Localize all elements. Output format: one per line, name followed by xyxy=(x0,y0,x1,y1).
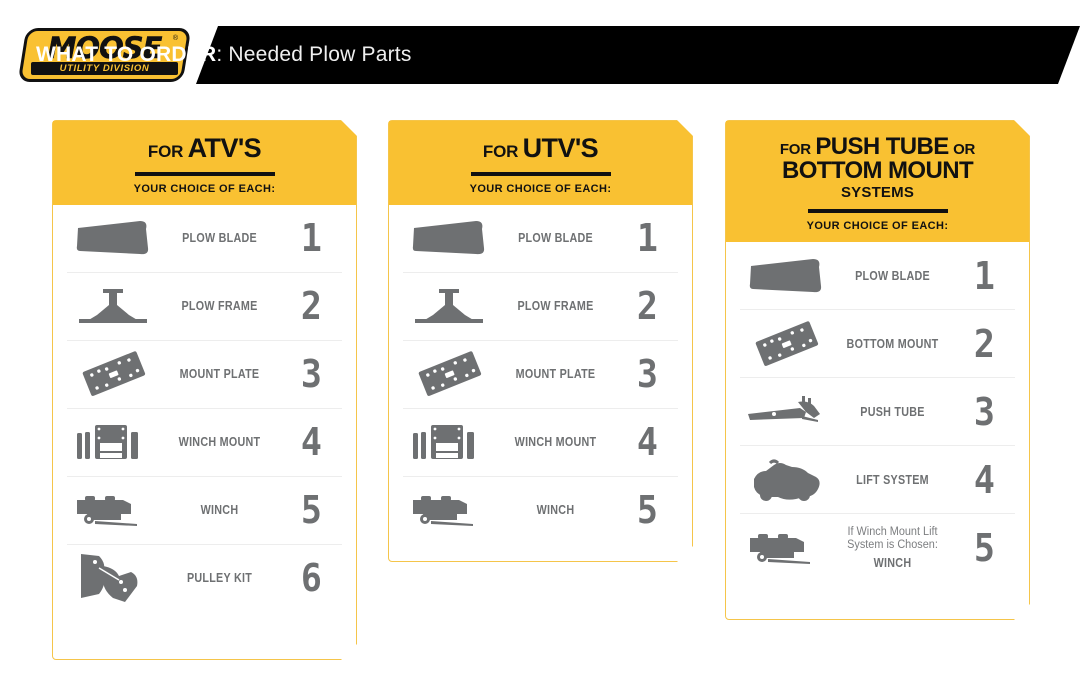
list-item-label: PUSH TUBE xyxy=(840,405,944,419)
list-item-note: If Winch Mount Lift System is Chosen: xyxy=(835,526,949,553)
list-item-number: 2 xyxy=(618,287,675,325)
card-atv-divider xyxy=(135,172,275,176)
card-utv-divider xyxy=(471,172,611,176)
list-item-number: 3 xyxy=(955,393,1012,431)
card-atv-title-main: ATV'S xyxy=(188,133,261,163)
card-atv-rows: PLOW BLADE 1 PLOW FRAME 2 MOUNT PLATE 3 … xyxy=(53,205,356,612)
card-push-tube-bottom-mount: FOR PUSH TUBE OR BOTTOM MOUNT SYSTEMS YO… xyxy=(725,120,1030,620)
plow-frame-icon xyxy=(67,273,159,340)
card-push-tube-title-pre: FOR xyxy=(780,141,811,158)
winch-mount-icon xyxy=(403,409,495,476)
plow-blade-icon xyxy=(740,242,832,309)
list-item-label: PLOW BLADE xyxy=(840,269,944,283)
list-item[interactable]: BOTTOM MOUNT 2 xyxy=(740,310,1015,378)
list-item[interactable]: PLOW BLADE 1 xyxy=(740,242,1015,310)
card-push-tube-header: FOR PUSH TUBE OR BOTTOM MOUNT SYSTEMS YO… xyxy=(726,121,1029,242)
list-item-number: 1 xyxy=(282,219,339,257)
header-title: WHAT TO ORDER: Needed Plow Parts xyxy=(36,26,412,84)
list-item[interactable]: PLOW BLADE 1 xyxy=(403,205,678,273)
card-utv: FOR UTV'S YOUR CHOICE OF EACH: PLOW BLAD… xyxy=(388,120,693,562)
list-item-sublabel: WINCH xyxy=(840,556,944,570)
list-item-label: WINCH MOUNT xyxy=(167,435,271,449)
plow-blade-icon xyxy=(67,205,159,272)
list-item-number: 6 xyxy=(282,559,339,597)
list-item[interactable]: WINCH MOUNT 4 xyxy=(403,409,678,477)
plow-frame-icon xyxy=(403,273,495,340)
bottom-mount-icon xyxy=(740,310,832,377)
push-tube-icon xyxy=(740,378,832,445)
list-item-label: WINCH xyxy=(503,503,607,517)
list-item[interactable]: WINCH 5 xyxy=(403,477,678,544)
list-item[interactable]: PULLEY KIT 6 xyxy=(67,545,342,612)
list-item[interactable]: PUSH TUBE 3 xyxy=(740,378,1015,446)
list-item-label: PLOW BLADE xyxy=(167,231,271,245)
list-item[interactable]: WINCH 5 xyxy=(67,477,342,545)
card-push-tube-title: FOR PUSH TUBE OR BOTTOM MOUNT SYSTEMS xyxy=(736,135,1019,200)
list-item-number: 2 xyxy=(955,325,1012,363)
card-utv-title-pre: FOR xyxy=(483,142,518,161)
list-item[interactable]: LIFT SYSTEM 4 xyxy=(740,446,1015,514)
card-utv-header: FOR UTV'S YOUR CHOICE OF EACH: xyxy=(389,121,692,205)
list-item[interactable]: PLOW FRAME 2 xyxy=(403,273,678,341)
mount-plate-icon xyxy=(403,341,495,408)
card-push-tube-title-or: OR xyxy=(953,141,975,158)
list-item-label: MOUNT PLATE xyxy=(503,367,607,381)
page-header: MOOSE ® UTILITY DIVISION WHAT TO ORDER: … xyxy=(0,26,1080,84)
list-item[interactable]: PLOW BLADE 1 xyxy=(67,205,342,273)
card-utv-title-main: UTV'S xyxy=(523,133,598,163)
list-item-label: PLOW BLADE xyxy=(503,231,607,245)
list-item-label: WINCH MOUNT xyxy=(503,435,607,449)
card-push-tube-title-main: PUSH TUBE xyxy=(815,133,948,160)
winch-icon xyxy=(740,514,832,581)
card-push-tube-divider xyxy=(808,209,948,213)
card-utv-title: FOR UTV'S xyxy=(399,135,682,163)
list-item-number: 4 xyxy=(282,423,339,461)
card-atv: FOR ATV'S YOUR CHOICE OF EACH: PLOW BLAD… xyxy=(52,120,357,660)
card-push-tube-title-line2: BOTTOM MOUNT xyxy=(736,159,1019,183)
header-title-strong: WHAT TO ORDER xyxy=(36,43,216,67)
list-item-number: 5 xyxy=(955,529,1012,567)
card-atv-header: FOR ATV'S YOUR CHOICE OF EACH: xyxy=(53,121,356,205)
list-item[interactable]: PLOW FRAME 2 xyxy=(67,273,342,341)
card-push-tube-rows: PLOW BLADE 1 BOTTOM MOUNT 2 PUSH TUBE 3 … xyxy=(726,242,1029,581)
card-utv-rows: PLOW BLADE 1 PLOW FRAME 2 MOUNT PLATE 3 … xyxy=(389,205,692,544)
list-item[interactable]: If Winch Mount Lift System is Chosen: WI… xyxy=(740,514,1015,581)
list-item-number: 5 xyxy=(618,491,675,529)
list-item-label: PLOW FRAME xyxy=(167,299,271,313)
list-item-label: MOUNT PLATE xyxy=(167,367,271,381)
list-item-label: BOTTOM MOUNT xyxy=(840,337,944,351)
list-item-number: 4 xyxy=(955,461,1012,499)
card-utv-subtitle: YOUR CHOICE OF EACH: xyxy=(399,183,682,195)
winch-icon xyxy=(403,477,495,544)
list-item-number: 1 xyxy=(618,219,675,257)
winch-icon xyxy=(67,477,159,544)
list-item-label: PLOW FRAME xyxy=(503,299,607,313)
list-item[interactable]: MOUNT PLATE 3 xyxy=(403,341,678,409)
list-item-number: 1 xyxy=(955,257,1012,295)
header-title-light: : Needed Plow Parts xyxy=(216,43,411,67)
list-item-number: 4 xyxy=(618,423,675,461)
lift-system-icon xyxy=(740,446,832,513)
card-atv-subtitle: YOUR CHOICE OF EACH: xyxy=(63,183,346,195)
card-atv-title: FOR ATV'S xyxy=(63,135,346,163)
list-item[interactable]: WINCH MOUNT 4 xyxy=(67,409,342,477)
list-item-label: PULLEY KIT xyxy=(167,571,271,585)
winch-mount-icon xyxy=(67,409,159,476)
card-push-tube-subtitle: YOUR CHOICE OF EACH: xyxy=(736,220,1019,232)
card-push-tube-title-line3: SYSTEMS xyxy=(736,185,1019,200)
list-item-label: LIFT SYSTEM xyxy=(840,473,944,487)
list-item-number: 5 xyxy=(282,491,339,529)
list-item[interactable]: MOUNT PLATE 3 xyxy=(67,341,342,409)
list-item-number: 2 xyxy=(282,287,339,325)
list-item-number: 3 xyxy=(618,355,675,393)
pulley-kit-icon xyxy=(67,545,159,612)
list-item-label: WINCH xyxy=(167,503,271,517)
mount-plate-icon xyxy=(67,341,159,408)
list-item-label: If Winch Mount Lift System is Chosen: WI… xyxy=(840,526,944,570)
list-item-number: 3 xyxy=(282,355,339,393)
plow-blade-icon xyxy=(403,205,495,272)
card-atv-title-pre: FOR xyxy=(148,142,183,161)
